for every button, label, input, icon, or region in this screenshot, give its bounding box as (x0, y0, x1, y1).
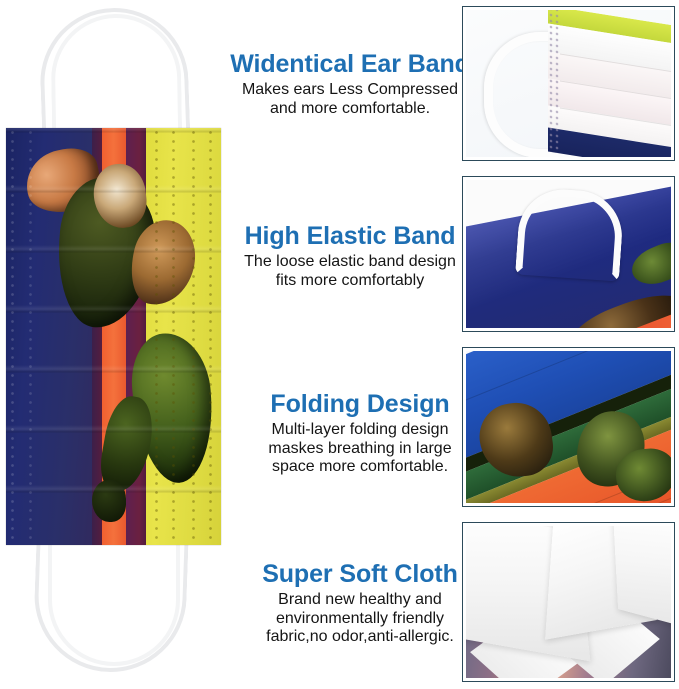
mask-band-purple (126, 128, 148, 545)
feature-title-ear-band: Widentical Ear Band (228, 50, 472, 78)
panel-soft-cloth-image (466, 526, 671, 678)
panel-ear-band (462, 6, 675, 161)
mask-band-navy (6, 128, 94, 545)
feature-desc-line: environmentally friendly (248, 610, 472, 629)
feature-block-folding-design: Folding Design Multi-layer folding desig… (248, 390, 472, 477)
panel-elastic-band (462, 176, 675, 332)
mask-perforation-navy-2 (26, 128, 35, 545)
feature-desc-line: fabric,no odor,anti-allergic. (248, 628, 472, 647)
mask-perforation-yellow-1 (152, 128, 161, 545)
infographic-page: Widentical Ear Band Makes ears Less Comp… (0, 0, 679, 689)
feature-desc-line: The loose elastic band design (228, 253, 472, 272)
feature-desc-ear-band: Makes ears Less Compressed and more comf… (228, 81, 472, 118)
hero-product-image (0, 0, 232, 689)
feature-title-folding-design: Folding Design (248, 390, 472, 418)
mask-perforation-yellow-4 (206, 128, 215, 545)
panel-folding-design (462, 347, 675, 507)
panel-ear-band-image (466, 10, 671, 157)
feature-desc-line: maskes breathing in large (248, 440, 472, 459)
mask-perforation-navy-1 (8, 128, 17, 545)
feature-block-soft-cloth: Super Soft Cloth Brand new healthy and e… (248, 560, 472, 647)
feature-desc-line: space more comfortable. (248, 458, 472, 477)
panel-elastic-band-image (466, 180, 671, 328)
panel0-mask (548, 10, 671, 157)
panel0-perforated-edge (548, 10, 561, 154)
mask-perforation-yellow-2 (169, 128, 178, 545)
mask-perforation-yellow-3 (189, 128, 198, 545)
panel-soft-cloth (462, 522, 675, 682)
feature-block-elastic-band: High Elastic Band The loose elastic band… (228, 222, 472, 290)
feature-desc-line: Multi-layer folding design (248, 421, 472, 440)
feature-desc-line: Makes ears Less Compressed (228, 81, 472, 100)
mask-band-orange (102, 128, 128, 545)
feature-block-ear-band: Widentical Ear Band Makes ears Less Comp… (228, 50, 472, 118)
mask-body (6, 128, 221, 545)
feature-title-elastic-band: High Elastic Band (228, 222, 472, 250)
feature-desc-elastic-band: The loose elastic band design fits more … (228, 253, 472, 290)
feature-title-soft-cloth: Super Soft Cloth (248, 560, 472, 588)
feature-desc-line: fits more comfortably (228, 272, 472, 291)
feature-desc-soft-cloth: Brand new healthy and environmentally fr… (248, 591, 472, 647)
panel-folding-design-image (466, 351, 671, 503)
feature-desc-line: Brand new healthy and (248, 591, 472, 610)
feature-desc-folding-design: Multi-layer folding design maskes breath… (248, 421, 472, 477)
feature-desc-line: and more comfortable. (228, 100, 472, 119)
